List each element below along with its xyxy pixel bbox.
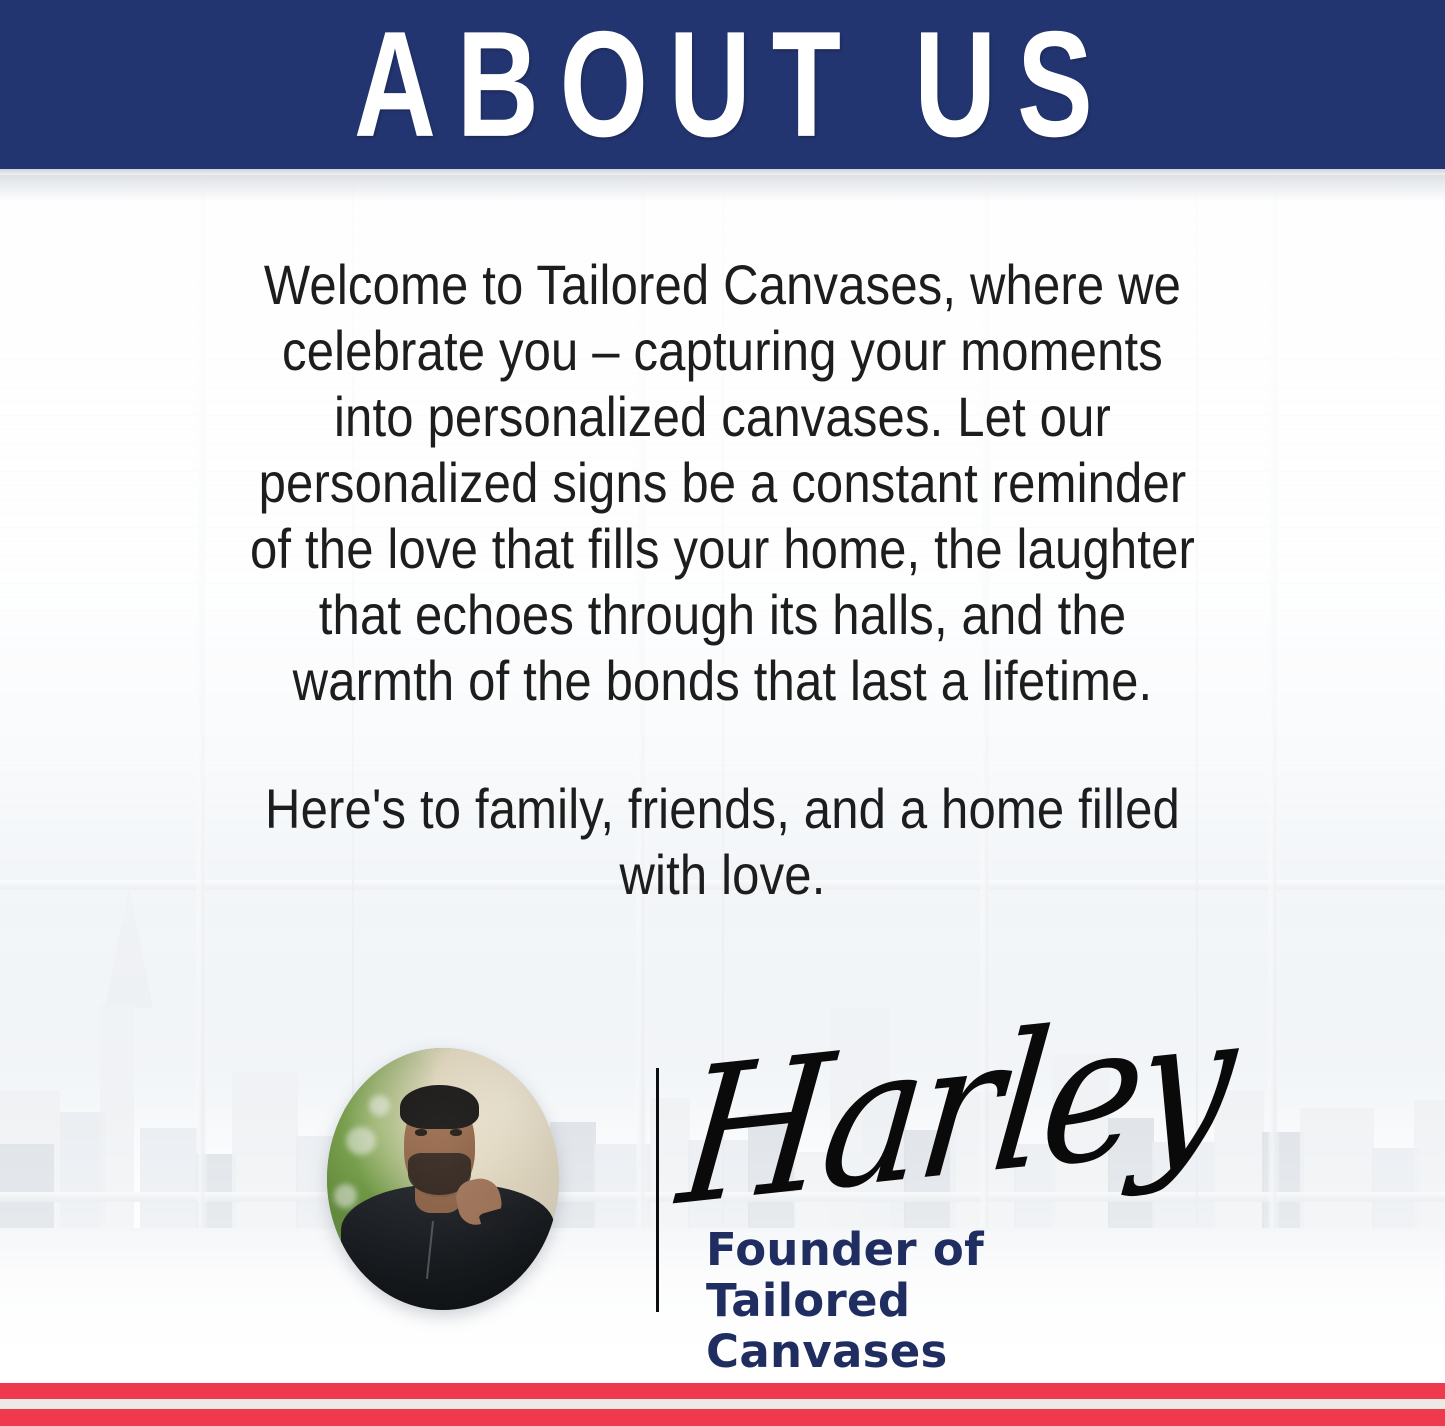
paragraph-spacer [243,714,1201,776]
signature-divider [656,1068,659,1312]
founder-signature: Harley [672,987,1238,1233]
about-paragraph-1: Welcome to Tailored Canvases, where we c… [243,252,1201,714]
about-paragraph-2: Here's to family, friends, and a home fi… [243,776,1201,908]
about-us-body-copy: Welcome to Tailored Canvases, where we c… [243,252,1201,908]
founder-avatar [327,1048,559,1310]
banner-bottom-edge [0,169,1445,175]
signature-block: Harley Founder of Tailored Canvases [676,1052,1156,1322]
footer-bar-gap [0,1399,1445,1409]
footer-red-bar-top [0,1383,1445,1399]
about-us-card: ABOUT US Welcome to Tailored Canvases, w… [0,0,1445,1426]
founder-portrait-photo [327,1048,559,1310]
founder-role: Founder of Tailored Canvases [706,1224,1156,1377]
page-title: ABOUT US [354,9,1114,160]
footer-red-bar-bottom [0,1409,1445,1426]
about-us-banner: ABOUT US [0,0,1445,169]
banner-drop-shadow [0,175,1445,201]
